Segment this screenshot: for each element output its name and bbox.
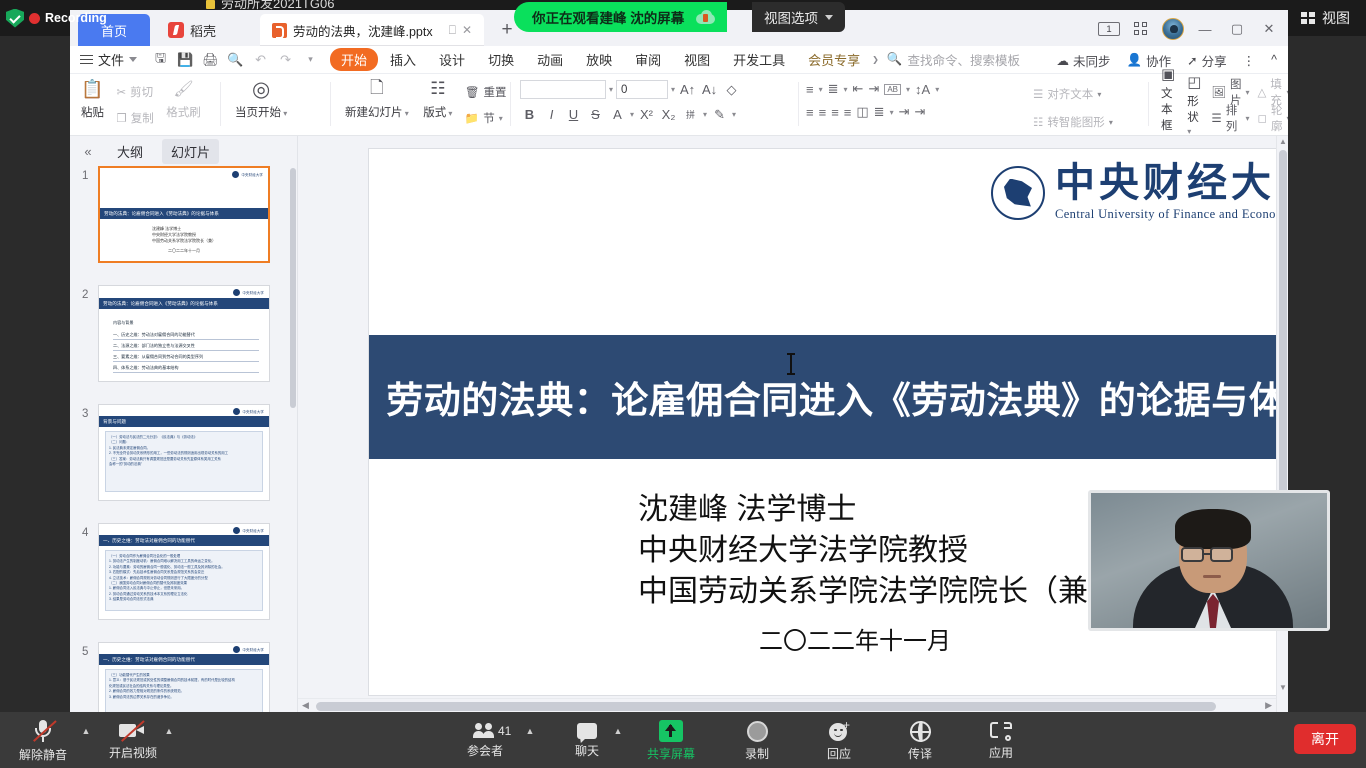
- apps-label: 应用: [989, 744, 1013, 761]
- play-circle-icon: ◎: [252, 76, 270, 102]
- section-label: 节: [483, 110, 495, 126]
- ribbon-tab-design[interactable]: 设计: [428, 48, 476, 71]
- save-as-icon[interactable]: 💾: [174, 49, 197, 71]
- collapse-panel-button[interactable]: «: [78, 144, 98, 159]
- ribbon-group-insert: ▣ 文本框▾ ◰ 形状▾ 🖼 图片 ▾ ☰ 排列 ▾: [1156, 76, 1288, 134]
- bold-button[interactable]: B: [520, 105, 539, 124]
- participants-count: 41: [498, 724, 511, 738]
- recording-label: Recording: [45, 11, 107, 25]
- section-icon: 📁: [465, 111, 479, 125]
- scroll-down-icon[interactable]: ▼: [1279, 684, 1287, 692]
- record-button[interactable]: 录制: [730, 716, 784, 766]
- shared-window-icon: [206, 0, 215, 9]
- participants-caret-icon[interactable]: ▲: [524, 726, 536, 738]
- logo-chinese-name: 中央财经大学: [1055, 163, 1288, 203]
- print-preview-icon[interactable]: 🔍: [224, 49, 247, 71]
- thumbnail-number: 3: [82, 408, 88, 420]
- search-icon: 🔍: [887, 52, 903, 67]
- share-button[interactable]: ➚ 分享: [1180, 51, 1234, 70]
- highlight-icon[interactable]: ✎: [710, 105, 729, 124]
- shape-icon: ◰: [1187, 73, 1201, 91]
- smart-art-button[interactable]: ☷ 转智能图形 ▾: [1030, 110, 1116, 134]
- slide-title-text: 劳动的法典：论雇佣合同进入《劳动法典》的论据与体系: [386, 370, 1288, 424]
- list-item[interactable]: 1 中央财经大学 劳动的法典：论雇佣合同进入《劳动法典》的论据与体系 沈建峰 法…: [70, 166, 290, 276]
- watching-screen-banner: 你正在观看建峰 沈的屏幕: [514, 2, 727, 32]
- ribbon-group-font: ▾ 0 ▾ A↑ A↓ ◇ B I U S A ▾ X² X₂ 拼: [520, 76, 741, 134]
- thumbnail-line: 3. 结果是劳动合同法形式法典: [106, 597, 262, 602]
- chevron-down-icon[interactable]: ▾: [609, 85, 613, 94]
- align-center-icon[interactable]: ≡: [819, 105, 827, 120]
- text-box-button[interactable]: ▣ 文本框▾: [1156, 76, 1180, 134]
- interpretation-label: 传译: [908, 745, 932, 762]
- slide-title-bar[interactable]: 劳动的法典：论雇佣合同进入《劳动法典》的论据与体系: [369, 335, 1288, 459]
- file-menu-label: 文件: [98, 50, 124, 69]
- thumbnail-logo: 中央财经大学: [232, 171, 263, 178]
- chat-icon: [577, 723, 597, 739]
- hamburger-icon: [80, 55, 93, 65]
- shape-button[interactable]: ◰ 形状▾: [1182, 76, 1206, 134]
- thumbnail-heading: 内容与背景: [113, 320, 259, 327]
- sync-status-button[interactable]: ☁ 未同步: [1050, 51, 1118, 70]
- video-options-caret-icon[interactable]: ▲: [163, 726, 175, 738]
- cloud-icon: ☁: [1057, 53, 1070, 68]
- scroll-up-icon[interactable]: ▲: [1279, 138, 1287, 146]
- thumbnail-title: 一、历史之维：劳动法对雇佣合同的功能替代: [99, 654, 269, 665]
- thumbnail-title: 背景与问题: [99, 416, 269, 427]
- university-logo: 中央财经大学 Central University of Finance and…: [991, 163, 1288, 222]
- clear-format-icon[interactable]: ◇: [722, 80, 741, 99]
- new-slide-label: 新建幻灯片: [345, 107, 403, 119]
- layout-label: 版式: [423, 107, 446, 119]
- webcam-video-thumbnail[interactable]: [1088, 490, 1330, 631]
- cloud-upload-icon[interactable]: [696, 10, 715, 24]
- cut-button[interactable]: ✂ 剪切: [113, 80, 156, 104]
- cut-label: 剪切: [130, 84, 153, 100]
- participants-label: 参会者: [467, 742, 503, 759]
- thumbnail-line: 会称一的"劳动的法典": [106, 462, 262, 467]
- tab-docer-label: 稻壳: [190, 21, 216, 40]
- underline-button[interactable]: U: [564, 105, 583, 124]
- microphone-muted-icon: [32, 719, 54, 743]
- font-name-input[interactable]: [520, 80, 606, 99]
- align-left-icon[interactable]: ≡: [806, 105, 814, 120]
- thumbnail-line: 三、要素之维：从雇佣合同到劳动合同的类型序列: [113, 354, 259, 362]
- columns-icon[interactable]: ≣: [874, 104, 885, 120]
- thumbnail-slide-3[interactable]: 中央财经大学 背景与问题 （一）劳动法与民法的二元分割：《民法典》与《劳动法》 …: [98, 404, 270, 501]
- leave-meeting-button[interactable]: 离开: [1294, 724, 1356, 754]
- thumbnail-logo: 中央财经大学: [233, 289, 264, 296]
- monitor-icon[interactable]: ⎕: [449, 23, 456, 38]
- chevron-down-icon[interactable]: ▾: [671, 85, 675, 94]
- camera-off-icon: [119, 721, 147, 741]
- list-item[interactable]: 4 中央财经大学 一、历史之维：劳动法对雇佣合同的功能替代 （一）劳动合同作为雇…: [70, 523, 290, 633]
- powerpoint-file-icon: [272, 23, 287, 38]
- recording-indicator: Recording: [6, 8, 107, 28]
- list-item[interactable]: 5 中央财经大学 一、历史之维：劳动法对雇佣合同的功能替代 （三）功能替代产生的…: [70, 642, 290, 712]
- chat-caret-icon[interactable]: ▲: [612, 726, 624, 738]
- minimize-button[interactable]: —: [1190, 16, 1220, 42]
- close-tab-icon[interactable]: ✕: [462, 23, 472, 37]
- ribbon-tab-view[interactable]: 视图: [673, 48, 721, 71]
- ribbon-tab-list: 开始 插入 设计 切换 动画 放映 审阅 视图 开发工具 会员专享 ❯: [330, 48, 879, 71]
- panel-tab-outline[interactable]: 大纲: [108, 139, 152, 164]
- thumbnail-title: 一、历史之维：劳动法对雇佣合同的功能替代: [99, 535, 269, 546]
- thumbnail-number: 4: [82, 527, 88, 539]
- view-options-button[interactable]: 视图选项: [752, 2, 845, 32]
- thumbnail-line: 二、法源之维：部门法的独立性与法源交叉性: [113, 343, 259, 351]
- undo-icon[interactable]: ↶: [249, 49, 272, 71]
- ribbon-tab-vip[interactable]: 会员专享: [797, 48, 871, 71]
- apps-icon: [990, 721, 1012, 741]
- align-text-button[interactable]: ☰ 对齐文本 ▾: [1030, 82, 1116, 106]
- person-add-icon: 👤: [1127, 53, 1143, 68]
- format-painter-button[interactable]: 🖌 格式刷: [161, 76, 206, 120]
- thumbnail-slide-5[interactable]: 中央财经大学 一、历史之维：劳动法对雇佣合同的功能替代 （三）功能替代产生的效果…: [98, 642, 270, 712]
- line-spacing-icon[interactable]: ↕A: [915, 82, 930, 97]
- scroll-left-icon[interactable]: ◀: [302, 700, 309, 711]
- scroll-right-icon[interactable]: ▶: [1265, 700, 1272, 711]
- thumbnail-number: 1: [82, 170, 88, 182]
- reset-button[interactable]: 🗑 重置: [462, 80, 510, 104]
- thumbnail-number: 5: [82, 646, 88, 658]
- record-icon: [747, 721, 768, 742]
- apps-button[interactable]: 应用: [974, 716, 1028, 766]
- ribbon-group-clipboard: 📋 粘贴 ✂ 剪切 ❐ 复制 🖌 格式刷: [76, 76, 206, 134]
- decrease-font-size-button[interactable]: A↓: [700, 80, 719, 99]
- align-text-label: 对齐文本: [1047, 86, 1093, 102]
- font-size-input[interactable]: 0: [616, 80, 668, 99]
- ribbon-group-textalign: ☰ 对齐文本 ▾ ☷ 转智能图形 ▾: [1030, 76, 1116, 134]
- thumbnail-slide-1[interactable]: 中央财经大学 劳动的法典：论雇佣合同进入《劳动法典》的论据与体系 沈建峰 法学博…: [98, 166, 270, 263]
- smart-art-icon: ☷: [1033, 115, 1043, 129]
- decrease-indent-icon[interactable]: ⇤: [853, 81, 864, 97]
- text-box-icon: ▣: [1161, 65, 1175, 83]
- zoom-view-label: 视图: [1322, 8, 1350, 28]
- wps-ribbon: 📋 粘贴 ✂ 剪切 ❐ 复制 🖌 格式刷: [70, 74, 1288, 136]
- wps-menu-row: 文件 🖫 💾 🖨 🔍 ↶ ↷ ▾ 开始 插入 设计 切换 动画 放映 审阅 视: [70, 46, 1288, 74]
- panel-header: « 大纲 幻灯片: [70, 136, 298, 166]
- list-item[interactable]: 2 中央财经大学 劳动的法典：论雇佣合同进入《劳动法典》的论据与体系 内容与背景…: [70, 285, 290, 395]
- chat-label: 聊天: [575, 742, 599, 759]
- paste-icon: 📋: [81, 76, 103, 102]
- thumbnail-list[interactable]: 1 中央财经大学 劳动的法典：论雇佣合同进入《劳动法典》的论据与体系 沈建峰 法…: [70, 166, 290, 712]
- slide-horizontal-scrollbar[interactable]: ◀ ▶: [298, 698, 1276, 712]
- panel-scrollbar[interactable]: [290, 168, 296, 408]
- subscript-button[interactable]: X₂: [659, 105, 678, 124]
- shield-check-icon: [6, 9, 24, 28]
- start-from-page-button[interactable]: ◎ 当页开始 ▾: [230, 76, 292, 120]
- outline-button[interactable]: ◻ 轮廓 ▾: [1255, 106, 1289, 130]
- zoom-bottom-toolbar: 解除静音 ▲ 开启视频 ▲ 41 参会者 ▲ 聊天 ▲: [0, 712, 1366, 768]
- format-painter-label: 格式刷: [166, 104, 201, 120]
- thumbnail-slide-2[interactable]: 中央财经大学 劳动的法典：论雇佣合同进入《劳动法典》的论据与体系 内容与背景 一…: [98, 285, 270, 382]
- window-controls: 1 — ▢ ✕: [1094, 15, 1284, 43]
- participants-button[interactable]: 41 参会者: [458, 716, 512, 766]
- copy-icon: ❐: [116, 111, 126, 125]
- grid-view-button[interactable]: [1126, 16, 1156, 42]
- strikethrough-button[interactable]: S: [586, 105, 605, 124]
- arrange-label: 排列: [1226, 102, 1242, 134]
- scissors-icon: ✂: [116, 85, 126, 99]
- ribbon-tab-transition[interactable]: 切换: [477, 48, 525, 71]
- outline-icon: ◻: [1258, 111, 1268, 125]
- copy-button[interactable]: ❐ 复制: [113, 106, 156, 130]
- record-dot-icon: [29, 13, 40, 24]
- participants-icon: [473, 723, 497, 739]
- chevron-down-icon: ▾: [281, 109, 287, 118]
- shape-label: 形状: [1187, 96, 1199, 124]
- reactions-icon: +: [828, 721, 850, 742]
- customize-toolbar-icon[interactable]: ▾: [299, 49, 322, 71]
- thumbnail-logo: 中央财经大学: [233, 527, 264, 534]
- unmute-label: 解除静音: [19, 746, 67, 763]
- bullet-list-icon[interactable]: ≡: [806, 82, 814, 97]
- ribbon-tab-slideshow[interactable]: 放映: [575, 48, 623, 71]
- file-menu-button[interactable]: 文件: [70, 50, 145, 69]
- increase-font-size-button[interactable]: A↑: [678, 80, 697, 99]
- scroll-thumb[interactable]: [316, 702, 1216, 711]
- ribbon-group-paragraph: ≡▾ ≣▾ ⇤ ⇥ AB▾ ↕A▾ ≡ ≡ ≡ ≡ ◫ ≣▾ ⇥ ⇥: [806, 76, 939, 134]
- thumbnail-logo: 中央财经大学: [233, 646, 264, 653]
- page-count-button[interactable]: 1: [1094, 16, 1124, 42]
- university-seal-icon: [991, 166, 1045, 220]
- globe-icon: [910, 721, 931, 742]
- close-button[interactable]: ✕: [1254, 16, 1284, 42]
- chat-button[interactable]: 聊天: [560, 716, 614, 766]
- layout-button[interactable]: ☷ 版式 ▾: [418, 76, 457, 120]
- ribbon-tab-developer[interactable]: 开发工具: [722, 48, 796, 71]
- zoom-view-button[interactable]: 视图: [1293, 6, 1358, 30]
- thumbnail-line: 四、体系之维：劳动法典的基本结构: [113, 365, 259, 373]
- ribbon-group-slides: 🗋 新建幻灯片 ▾ ☷ 版式 ▾ 🗑 重置 📁 节 ▾: [340, 76, 510, 134]
- arrange-icon: ☰: [1211, 111, 1221, 125]
- text-shadow-button[interactable]: A: [608, 105, 627, 124]
- ribbon-tab-insert[interactable]: 插入: [379, 48, 427, 71]
- align-text-icon: ☰: [1033, 87, 1043, 101]
- indent-more-icon[interactable]: ⇥: [899, 104, 910, 120]
- reset-icon: 🗑: [465, 85, 480, 99]
- copy-label: 复制: [131, 110, 154, 126]
- save-icon[interactable]: 🖫: [149, 49, 172, 71]
- start-video-button[interactable]: 开启视频: [106, 716, 160, 766]
- new-slide-button[interactable]: 🗋 新建幻灯片 ▾: [340, 76, 414, 120]
- thumbnail-number: 2: [82, 289, 88, 301]
- increase-indent-icon[interactable]: ⇥: [868, 81, 879, 97]
- unmute-button[interactable]: 解除静音: [16, 716, 70, 766]
- audio-options-caret-icon[interactable]: ▲: [80, 726, 92, 738]
- ribbon-tab-animation[interactable]: 动画: [526, 48, 574, 71]
- picture-icon: 🖼: [1211, 85, 1226, 99]
- share-screen-label: 共享屏幕: [647, 745, 695, 762]
- distribute-icon[interactable]: ◫: [856, 104, 868, 120]
- ribbon-more-icon[interactable]: ❯: [872, 55, 879, 64]
- slide-thumbnail-panel: « 大纲 幻灯片 1 中央财经大学 劳动的法典：论雇佣合同进入《劳动法典》的论据…: [70, 136, 298, 712]
- interpretation-button[interactable]: 传译: [893, 716, 947, 766]
- arrange-button[interactable]: ☰ 排列 ▾: [1208, 106, 1252, 130]
- superscript-button[interactable]: X²: [637, 105, 656, 124]
- share-label: 分享: [1202, 51, 1227, 70]
- share-icon: ➚: [1187, 53, 1197, 68]
- thumbnail-logo: 中央财经大学: [233, 408, 264, 415]
- align-justify-icon[interactable]: ≡: [844, 105, 852, 120]
- layout-icon: ☷: [430, 76, 445, 102]
- tab-document-label: 劳动的法典，沈建峰.pptx: [293, 21, 443, 40]
- more-options-icon[interactable]: ⋮: [1236, 53, 1263, 68]
- collapse-ribbon-icon[interactable]: ^: [1264, 53, 1284, 67]
- start-from-page-label: 当页开始: [235, 107, 281, 119]
- thumbnail-line: 二〇二二年十一月: [168, 248, 200, 254]
- tab-docer[interactable]: 稻壳: [156, 14, 228, 46]
- chevron-down-icon: [825, 15, 833, 20]
- italic-button[interactable]: I: [542, 105, 561, 124]
- fill-icon: △: [1258, 85, 1267, 99]
- panel-tab-slides[interactable]: 幻灯片: [162, 139, 219, 164]
- quick-access-toolbar: 🖫 💾 🖨 🔍 ↶ ↷ ▾: [149, 49, 322, 71]
- text-cursor: [790, 353, 792, 375]
- docer-icon: [168, 22, 184, 38]
- view-grid-icon: [1301, 12, 1316, 25]
- paste-label: 粘贴: [81, 104, 104, 120]
- redo-icon[interactable]: ↷: [274, 49, 297, 71]
- picture-button[interactable]: 🖼 图片 ▾: [1208, 80, 1252, 104]
- thumbnail-title: 劳动的法典：论雇佣合同进入《劳动法典》的论据与体系: [100, 208, 268, 219]
- record-label: 录制: [745, 745, 769, 762]
- command-search-placeholder: 查找命令、搜索模板: [907, 50, 1020, 69]
- thumbnail-slide-4[interactable]: 中央财经大学 一、历史之维：劳动法对雇佣合同的功能替代 （一）劳动合同作为雇佣合…: [98, 523, 270, 620]
- avatar[interactable]: [1158, 16, 1188, 42]
- maximize-button[interactable]: ▢: [1222, 16, 1252, 42]
- share-screen-button[interactable]: 共享屏幕: [644, 716, 698, 766]
- outline-label: 轮廓: [1271, 102, 1283, 134]
- logo-english-name: Central University of Finance and Econom…: [1055, 207, 1288, 222]
- pinyin-guide-icon[interactable]: 拼: [681, 105, 700, 124]
- tab-document[interactable]: 劳动的法典，沈建峰.pptx ⎕ ✕: [260, 14, 484, 46]
- start-video-label: 开启视频: [109, 744, 157, 761]
- reactions-label: 回应: [827, 745, 851, 762]
- thumbnail-line: 中国劳动关系学院法学院院长（兼）: [152, 238, 216, 244]
- reset-label: 重置: [484, 84, 507, 100]
- thumbnail-line: 一、历史之维：劳动法对雇佣合同的功能替代: [113, 332, 259, 340]
- print-icon[interactable]: 🖨: [199, 49, 222, 71]
- text-box-label: 文本框: [1161, 88, 1173, 132]
- command-search[interactable]: 🔍 查找命令、搜索模板: [887, 50, 1020, 69]
- sync-status-label: 未同步: [1073, 51, 1111, 70]
- ribbon-group-slideshow: ◎ 当页开始 ▾: [230, 76, 292, 134]
- thumbnail-title: 劳动的法典：论雇佣合同进入《劳动法典》的论据与体系: [99, 298, 269, 309]
- section-button[interactable]: 📁 节 ▾: [462, 106, 510, 130]
- ribbon-tab-review[interactable]: 审阅: [624, 48, 672, 71]
- smart-art-label: 转智能图形: [1047, 114, 1105, 130]
- zoom-meeting-shell: 劳动所发2021TG06 Recording 你正在观看建峰 沈的屏幕 视图选项…: [0, 0, 1366, 768]
- thumbnail-line: 3. 雇佣合同法的边界关系存在的诸多争论。: [106, 695, 262, 700]
- watching-screen-text: 你正在观看建峰 沈的屏幕: [532, 7, 684, 27]
- format-painter-icon: 🖌: [173, 76, 193, 102]
- view-options-label: 视图选项: [764, 7, 818, 27]
- share-screen-icon: [659, 720, 683, 742]
- new-slide-icon: 🗋: [370, 76, 384, 102]
- text-direction-icon[interactable]: AB: [884, 84, 901, 95]
- paste-button[interactable]: 📋 粘贴: [76, 76, 109, 120]
- list-item[interactable]: 3 中央财经大学 背景与问题 （一）劳动法与民法的二元分割：《民法典》与《劳动法…: [70, 404, 290, 514]
- fill-button[interactable]: △ 填充 ▾: [1255, 80, 1289, 104]
- reactions-button[interactable]: + 回应: [812, 716, 866, 766]
- numbered-list-icon[interactable]: ≣: [828, 81, 839, 97]
- align-right-icon[interactable]: ≡: [831, 105, 839, 120]
- indent-extra-icon[interactable]: ⇥: [915, 104, 926, 120]
- chevron-down-icon: [129, 57, 137, 62]
- ribbon-tab-start[interactable]: 开始: [330, 48, 378, 71]
